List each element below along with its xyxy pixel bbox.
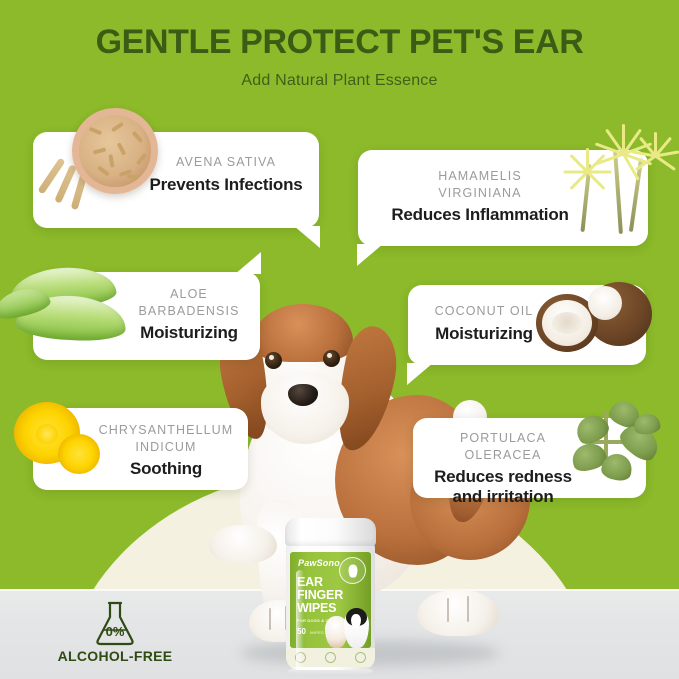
benefit-card-portulaca-oleracea[interactable]: PORTULACA OLERACEA Reduces redness and i… — [413, 418, 646, 498]
card-benefit-text: Moisturizing — [125, 323, 253, 343]
page-subtitle: Add Natural Plant Essence — [0, 72, 679, 90]
jar-lid[interactable] — [285, 518, 376, 546]
header: GENTLE PROTECT PET'S EAR Add Natural Pla… — [0, 24, 679, 90]
vet-icon — [355, 652, 366, 663]
bubble-tail — [235, 252, 261, 274]
flask-percent: 0% — [89, 624, 141, 639]
card-benefit-text: Soothing — [91, 459, 241, 479]
benefit-card-hamamelis-virginiana[interactable]: HAMAMELIS VIRGINIANA Reduces Inflammatio… — [358, 150, 648, 246]
product-infographic-poster: GENTLE PROTECT PET'S EAR Add Natural Pla… — [0, 0, 679, 679]
card-benefit-text: Reduces Inflammation — [380, 205, 580, 225]
dog-seal-icon — [339, 557, 366, 584]
benefit-card-coconut-oil[interactable]: COCONUT OIL Moisturizing — [408, 285, 646, 365]
card-latin-name: HAMAMELIS VIRGINIANA — [380, 168, 580, 201]
page-title: GENTLE PROTECT PET'S EAR — [0, 24, 679, 61]
card-benefit-text: Moisturizing — [420, 324, 548, 344]
bubble-tail — [407, 363, 433, 385]
benefit-card-chrysanthellum-indicum[interactable]: CHRYSANTHELLUM INDICUM Soothing — [33, 408, 248, 490]
plant-icon — [325, 652, 336, 663]
benefit-card-avena-sativa[interactable]: AVENA SATIVA Prevents Infections — [33, 132, 319, 228]
product-brand: PawSono — [298, 558, 340, 568]
alcohol-free-label: ALCOHOL-FREE — [44, 648, 186, 664]
card-latin-name: PORTULACA OLERACEA — [423, 430, 583, 463]
card-benefit-text: Reduces redness and irritation — [423, 467, 583, 507]
pet-photos — [325, 602, 369, 648]
card-latin-name: ALOE BARBADENSIS — [125, 286, 253, 319]
card-latin-name: COCONUT OIL — [420, 303, 548, 320]
product-jar[interactable]: PawSono EAR FINGER WIPES FOR DOGS & CATS… — [285, 518, 376, 673]
card-latin-name: CHRYSANTHELLUM INDICUM — [91, 422, 241, 455]
card-benefit-text: Prevents Infections — [141, 175, 311, 195]
benefit-card-aloe-barbadensis[interactable]: ALOE BARBADENSIS Moisturizing — [33, 272, 260, 360]
alcohol-free-badge: 0% ALCOHOL-FREE — [44, 600, 186, 664]
bubble-tail — [357, 244, 383, 266]
jar-body: PawSono EAR FINGER WIPES FOR DOGS & CATS… — [286, 542, 375, 670]
bubble-tail — [294, 226, 320, 248]
card-latin-name: AVENA SATIVA — [141, 154, 311, 171]
dog-photo — [344, 610, 369, 648]
jar-highlight — [296, 570, 304, 670]
flask-icon — [89, 600, 141, 646]
